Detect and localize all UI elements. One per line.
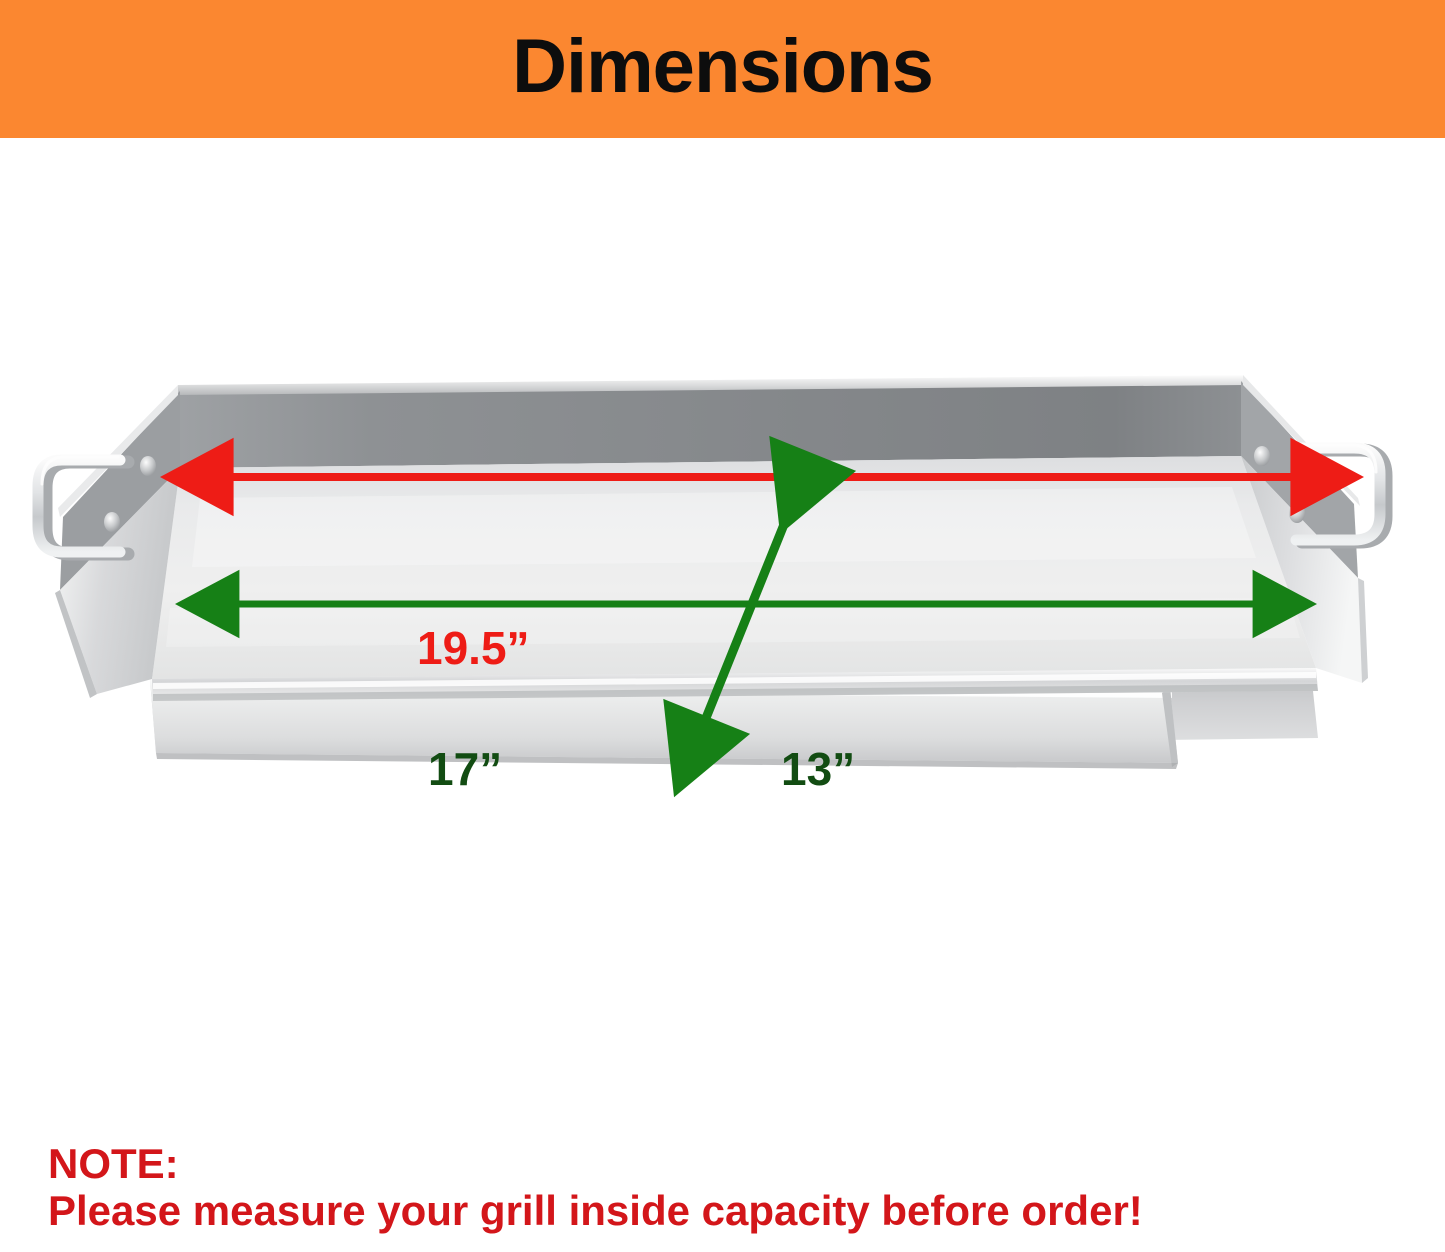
dimension-label-depth: 13” xyxy=(781,746,855,792)
griddle-plate xyxy=(55,375,1368,701)
product-figure: 19.5” 17” 13” xyxy=(0,138,1445,1128)
dimension-label-length: 19.5” xyxy=(417,625,530,671)
note-body: Please measure your grill inside capacit… xyxy=(48,1187,1428,1234)
header-banner: Dimensions xyxy=(0,0,1445,138)
page-title: Dimensions xyxy=(512,29,933,105)
note-heading: NOTE: xyxy=(48,1140,1428,1187)
dimension-label-width: 17” xyxy=(428,746,502,792)
note-block: NOTE: Please measure your grill inside c… xyxy=(48,1140,1428,1234)
griddle-illustration xyxy=(0,138,1445,1128)
